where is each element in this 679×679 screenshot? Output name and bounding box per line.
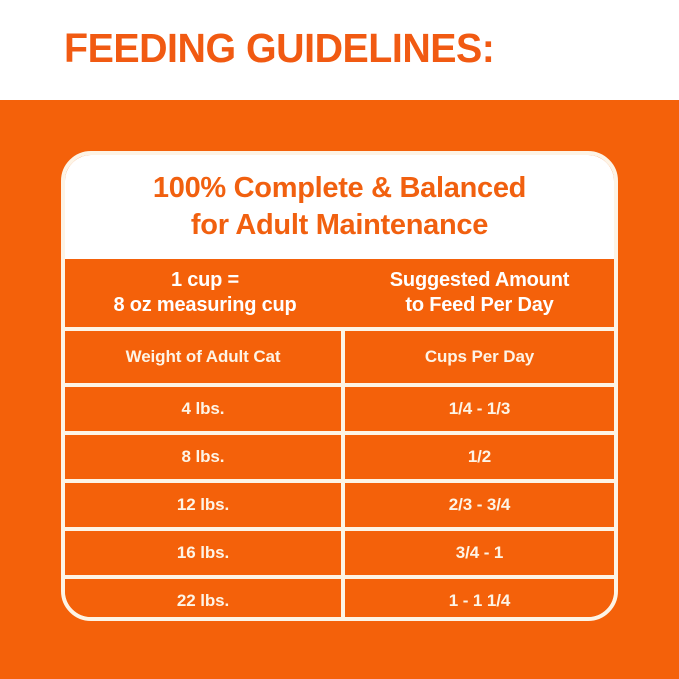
table-header-row: Weight of Adult Cat Cups Per Day <box>65 327 614 383</box>
cell-weight: 12 lbs. <box>65 483 345 527</box>
card-headline-line-1: 100% Complete & Balanced <box>153 170 526 207</box>
cell-cups: 1/4 - 1/3 <box>345 387 614 431</box>
banner-cell-suggested-amount: Suggested Amount to Feed Per Day <box>345 259 614 327</box>
cell-cups: 1/2 <box>345 435 614 479</box>
cell-weight: 4 lbs. <box>65 387 345 431</box>
table-row: 8 lbs. 1/2 <box>65 431 614 479</box>
feeding-guidelines-card: 100% Complete & Balanced for Adult Maint… <box>61 151 618 621</box>
banner-cup-line-2: 8 oz measuring cup <box>113 293 296 318</box>
feeding-table: Weight of Adult Cat Cups Per Day 4 lbs. … <box>65 327 614 621</box>
page-title: FEEDING GUIDELINES: <box>64 24 494 72</box>
column-header-cups: Cups Per Day <box>345 331 614 383</box>
banner-suggested-line-1: Suggested Amount <box>390 268 569 293</box>
card-headline: 100% Complete & Balanced for Adult Maint… <box>65 155 614 259</box>
table-row: 16 lbs. 3/4 - 1 <box>65 527 614 575</box>
table-row: 4 lbs. 1/4 - 1/3 <box>65 383 614 431</box>
banner-row: 1 cup = 8 oz measuring cup Suggested Amo… <box>65 259 614 327</box>
cell-weight: 8 lbs. <box>65 435 345 479</box>
card-headline-line-2: for Adult Maintenance <box>191 207 488 244</box>
header-band: FEEDING GUIDELINES: <box>0 0 679 100</box>
banner-suggested-line-2: to Feed Per Day <box>405 293 553 318</box>
column-header-weight: Weight of Adult Cat <box>65 331 345 383</box>
cell-cups: 3/4 - 1 <box>345 531 614 575</box>
cell-cups: 2/3 - 3/4 <box>345 483 614 527</box>
cell-weight: 16 lbs. <box>65 531 345 575</box>
table-row: 12 lbs. 2/3 - 3/4 <box>65 479 614 527</box>
banner-cell-cup-measure: 1 cup = 8 oz measuring cup <box>65 259 345 327</box>
table-row: 22 lbs. 1 - 1 1/4 <box>65 575 614 621</box>
banner-cup-line-1: 1 cup = <box>171 268 239 293</box>
cell-cups: 1 - 1 1/4 <box>345 579 614 621</box>
cell-weight: 22 lbs. <box>65 579 345 621</box>
